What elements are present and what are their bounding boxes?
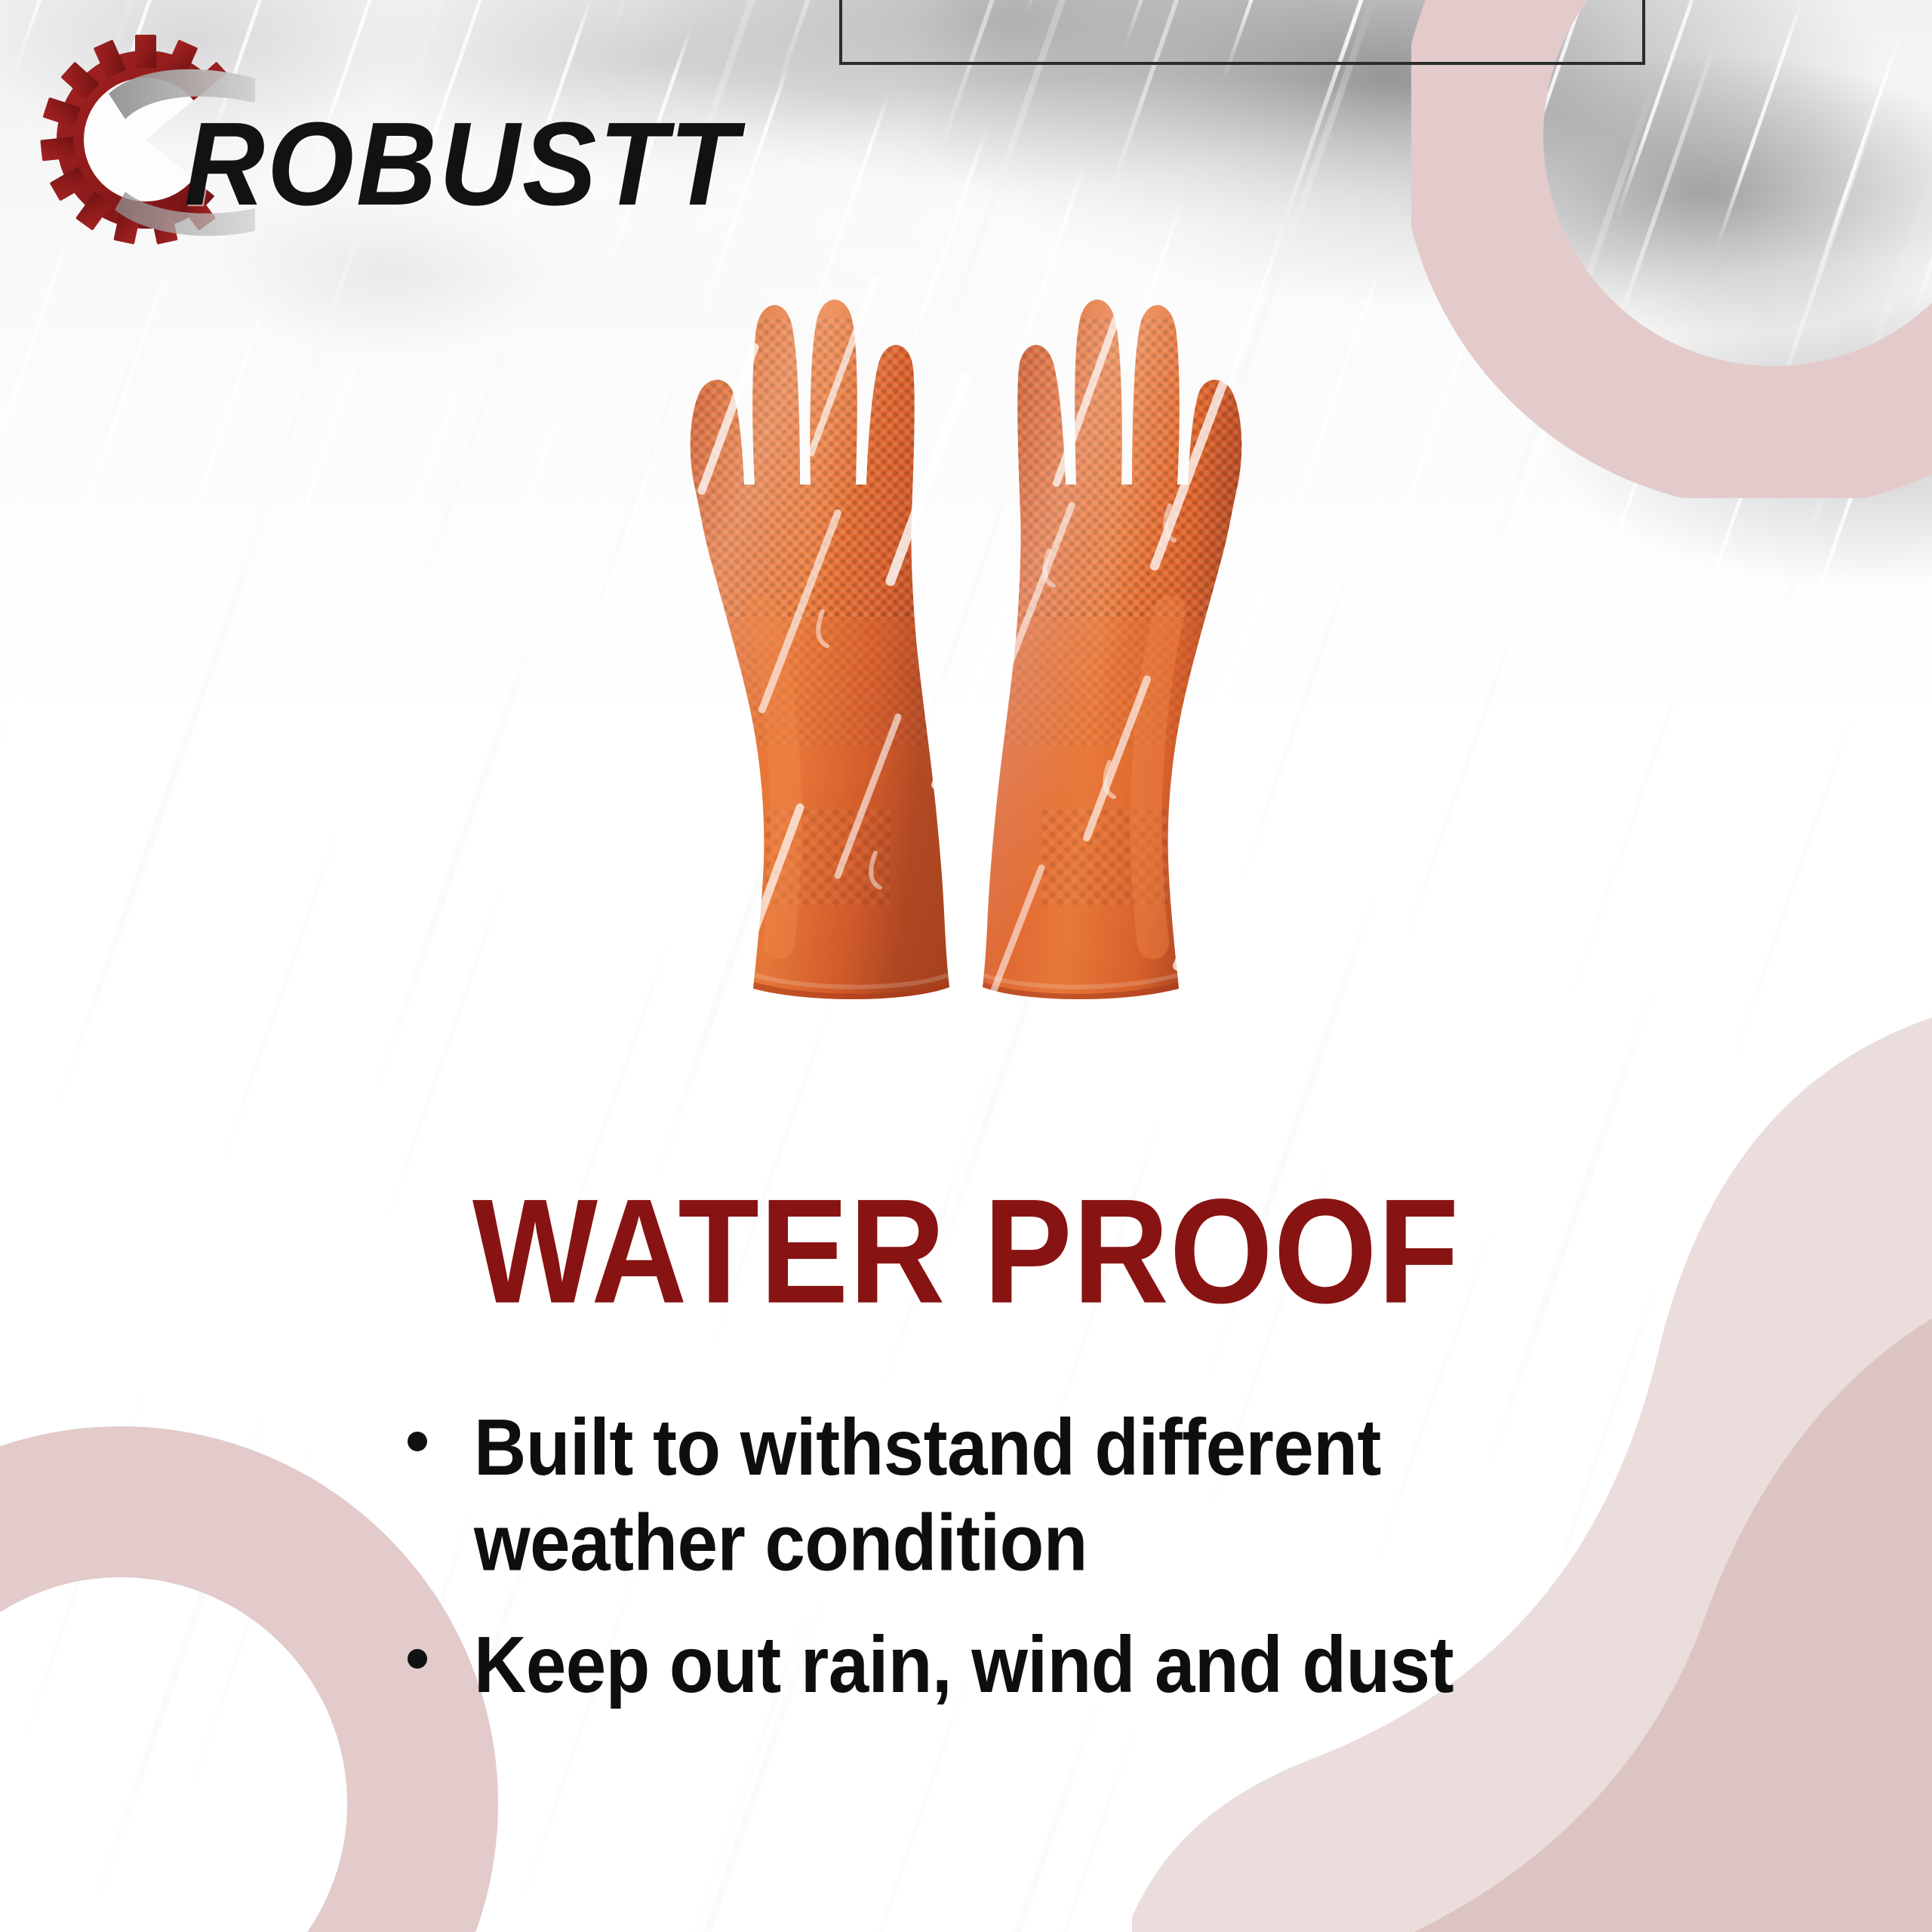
page-title: WATER PROOF <box>0 1177 1932 1326</box>
product-image-gloves <box>649 189 1283 1094</box>
list-item: Built to withstand different weather con… <box>408 1400 1585 1574</box>
top-decorative-frame <box>839 0 1645 65</box>
brand-logo[interactable]: ROBUSTT <box>36 30 715 226</box>
list-item: Keep out rain, wind and dust <box>408 1617 1585 1704</box>
glove-right <box>966 189 1283 1094</box>
feature-list: Built to withstand different weather con… <box>408 1400 1585 1749</box>
feature-text: Keep out rain, wind and dust <box>474 1617 1585 1713</box>
bullet-dot-icon <box>408 1649 427 1669</box>
glove-left <box>649 189 966 1094</box>
bullet-dot-icon <box>408 1432 427 1451</box>
poster-canvas: ROBUSTT <box>0 0 1932 1932</box>
feature-text: Built to withstand different weather con… <box>474 1400 1585 1591</box>
